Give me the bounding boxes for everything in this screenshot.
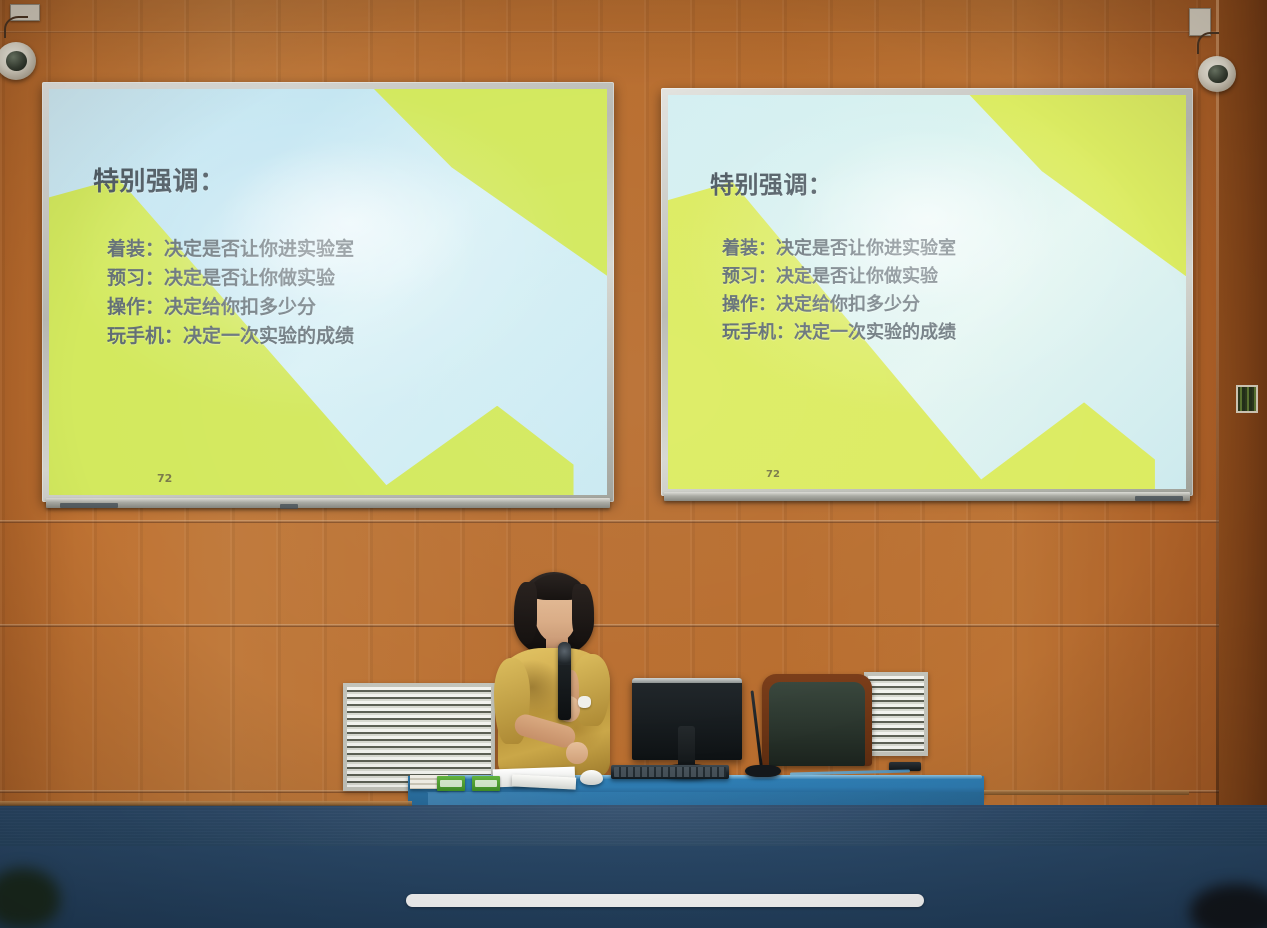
floor-foreground [0, 846, 1267, 928]
wall-seam [0, 31, 1267, 33]
slide-line: 玩手机：决定一次实验的成绩 [722, 319, 956, 347]
presenter-wristband [578, 696, 591, 708]
slide-line-value: 决定一次实验的成绩 [183, 325, 354, 347]
slide-line-label: 玩手机： [722, 319, 794, 347]
right-screen-tray [664, 492, 1190, 501]
slide-title: 特别强调： [93, 161, 226, 198]
slide-line: 预习：决定是否让你做实验 [107, 264, 354, 293]
slide-line-label: 着装： [722, 235, 776, 263]
computer-mouse[interactable] [580, 770, 603, 785]
slide-line-value: 决定是否让你进实验室 [776, 238, 956, 259]
slide-line-label: 预习： [107, 264, 164, 293]
slide-line-label: 操作： [722, 291, 776, 319]
left-projection-screen: 特别强调： 着装：决定是否让你进实验室 预习：决定是否让你做实验 操作：决定给你… [42, 82, 614, 502]
slide-title: 特别强调： [710, 165, 832, 200]
wall-seam [0, 624, 1267, 627]
right-projection-screen: 特别强调： 着装：决定是否让你进实验室 预习：决定是否让你做实验 操作：决定给你… [661, 88, 1193, 496]
stage-step-edge [0, 801, 412, 806]
speaker-lens [1208, 65, 1228, 84]
left-screen-surface: 特别强调： 着装：决定是否让你进实验室 预习：决定是否让你做实验 操作：决定给你… [49, 89, 607, 495]
ceiling-dome-speaker-right [1198, 56, 1236, 92]
keyboard[interactable] [611, 765, 729, 779]
gooseneck-microphone-base [745, 765, 781, 777]
slide-line-value: 决定是否让你进实验室 [164, 238, 354, 260]
fixture-cable-left [4, 16, 28, 38]
tray-marker [280, 504, 298, 509]
green-label-box[interactable] [472, 776, 500, 791]
monitor-top-bezel [632, 678, 742, 683]
slide-accent-shape [373, 406, 574, 495]
slide-line: 着装：决定是否让你进实验室 [107, 235, 354, 264]
slide-accent-shape [968, 402, 1154, 489]
slide-line-label: 着装： [107, 235, 164, 264]
presenter-hair-side [514, 582, 537, 644]
lecture-hall-video-frame: 特别强调： 着装：决定是否让你进实验室 预习：决定是否让你做实验 操作：决定给你… [0, 0, 1267, 928]
slide-line-label: 操作： [107, 293, 164, 322]
slide-line: 操作：决定给你扣多少分 [722, 291, 956, 319]
presenter-hand-on-mouse [566, 742, 588, 764]
slide-body: 着装：决定是否让你进实验室 预习：决定是否让你做实验 操作：决定给你扣多少分 玩… [722, 235, 956, 347]
slide-line-value: 决定给你扣多少分 [776, 294, 920, 315]
handheld-microphone[interactable] [558, 642, 571, 720]
slide-line-value: 决定一次实验的成绩 [794, 322, 956, 343]
microphone-grille [558, 642, 571, 665]
slide-line-value: 决定给你扣多少分 [164, 296, 316, 318]
slide-line-label: 玩手机： [107, 322, 183, 351]
wall-corner-edge [1216, 0, 1219, 812]
presenter [492, 570, 622, 795]
slide-line: 操作：决定给你扣多少分 [107, 293, 354, 322]
slide-body: 着装：决定是否让你进实验室 预习：决定是否让你做实验 操作：决定给你扣多少分 玩… [107, 235, 354, 351]
slide-line-value: 决定是否让你做实验 [776, 266, 938, 287]
tray-marker [1135, 496, 1183, 501]
presenter-chair[interactable] [762, 674, 872, 766]
green-label-box[interactable] [437, 776, 465, 791]
fixture-cable-right [1197, 32, 1219, 54]
hvac-vent-right [864, 672, 928, 756]
slide-line: 着装：决定是否让你进实验室 [722, 235, 956, 263]
slide-page-number: 72 [157, 472, 172, 485]
slide-line: 预习：决定是否让你做实验 [722, 263, 956, 291]
vent-louvers [868, 676, 924, 752]
sign-face [1238, 387, 1256, 411]
vent-louvers [347, 687, 491, 787]
tray-marker [60, 503, 118, 508]
wall-sign-right [1236, 385, 1258, 413]
slide-line-value: 决定是否让你做实验 [164, 267, 335, 289]
left-screen-tray [46, 498, 610, 508]
video-progress-bar[interactable] [406, 894, 924, 907]
presenter-hair-side [572, 584, 594, 642]
keyboard-keys [614, 767, 726, 777]
slide-page-number: 72 [766, 469, 780, 480]
stage-step-edge [984, 790, 1189, 795]
chair-backrest [769, 682, 865, 766]
monitor-stand-neck [678, 726, 695, 768]
right-screen-surface: 特别强调： 着装：决定是否让你进实验室 预习：决定是否让你做实验 操作：决定给你… [668, 95, 1186, 489]
video-timestamp-overlay [418, 912, 558, 923]
slide-line: 玩手机：决定一次实验的成绩 [107, 322, 354, 351]
speaker-lens [6, 51, 27, 71]
wall-seam [0, 520, 1267, 523]
slide-line-label: 预习： [722, 263, 776, 291]
